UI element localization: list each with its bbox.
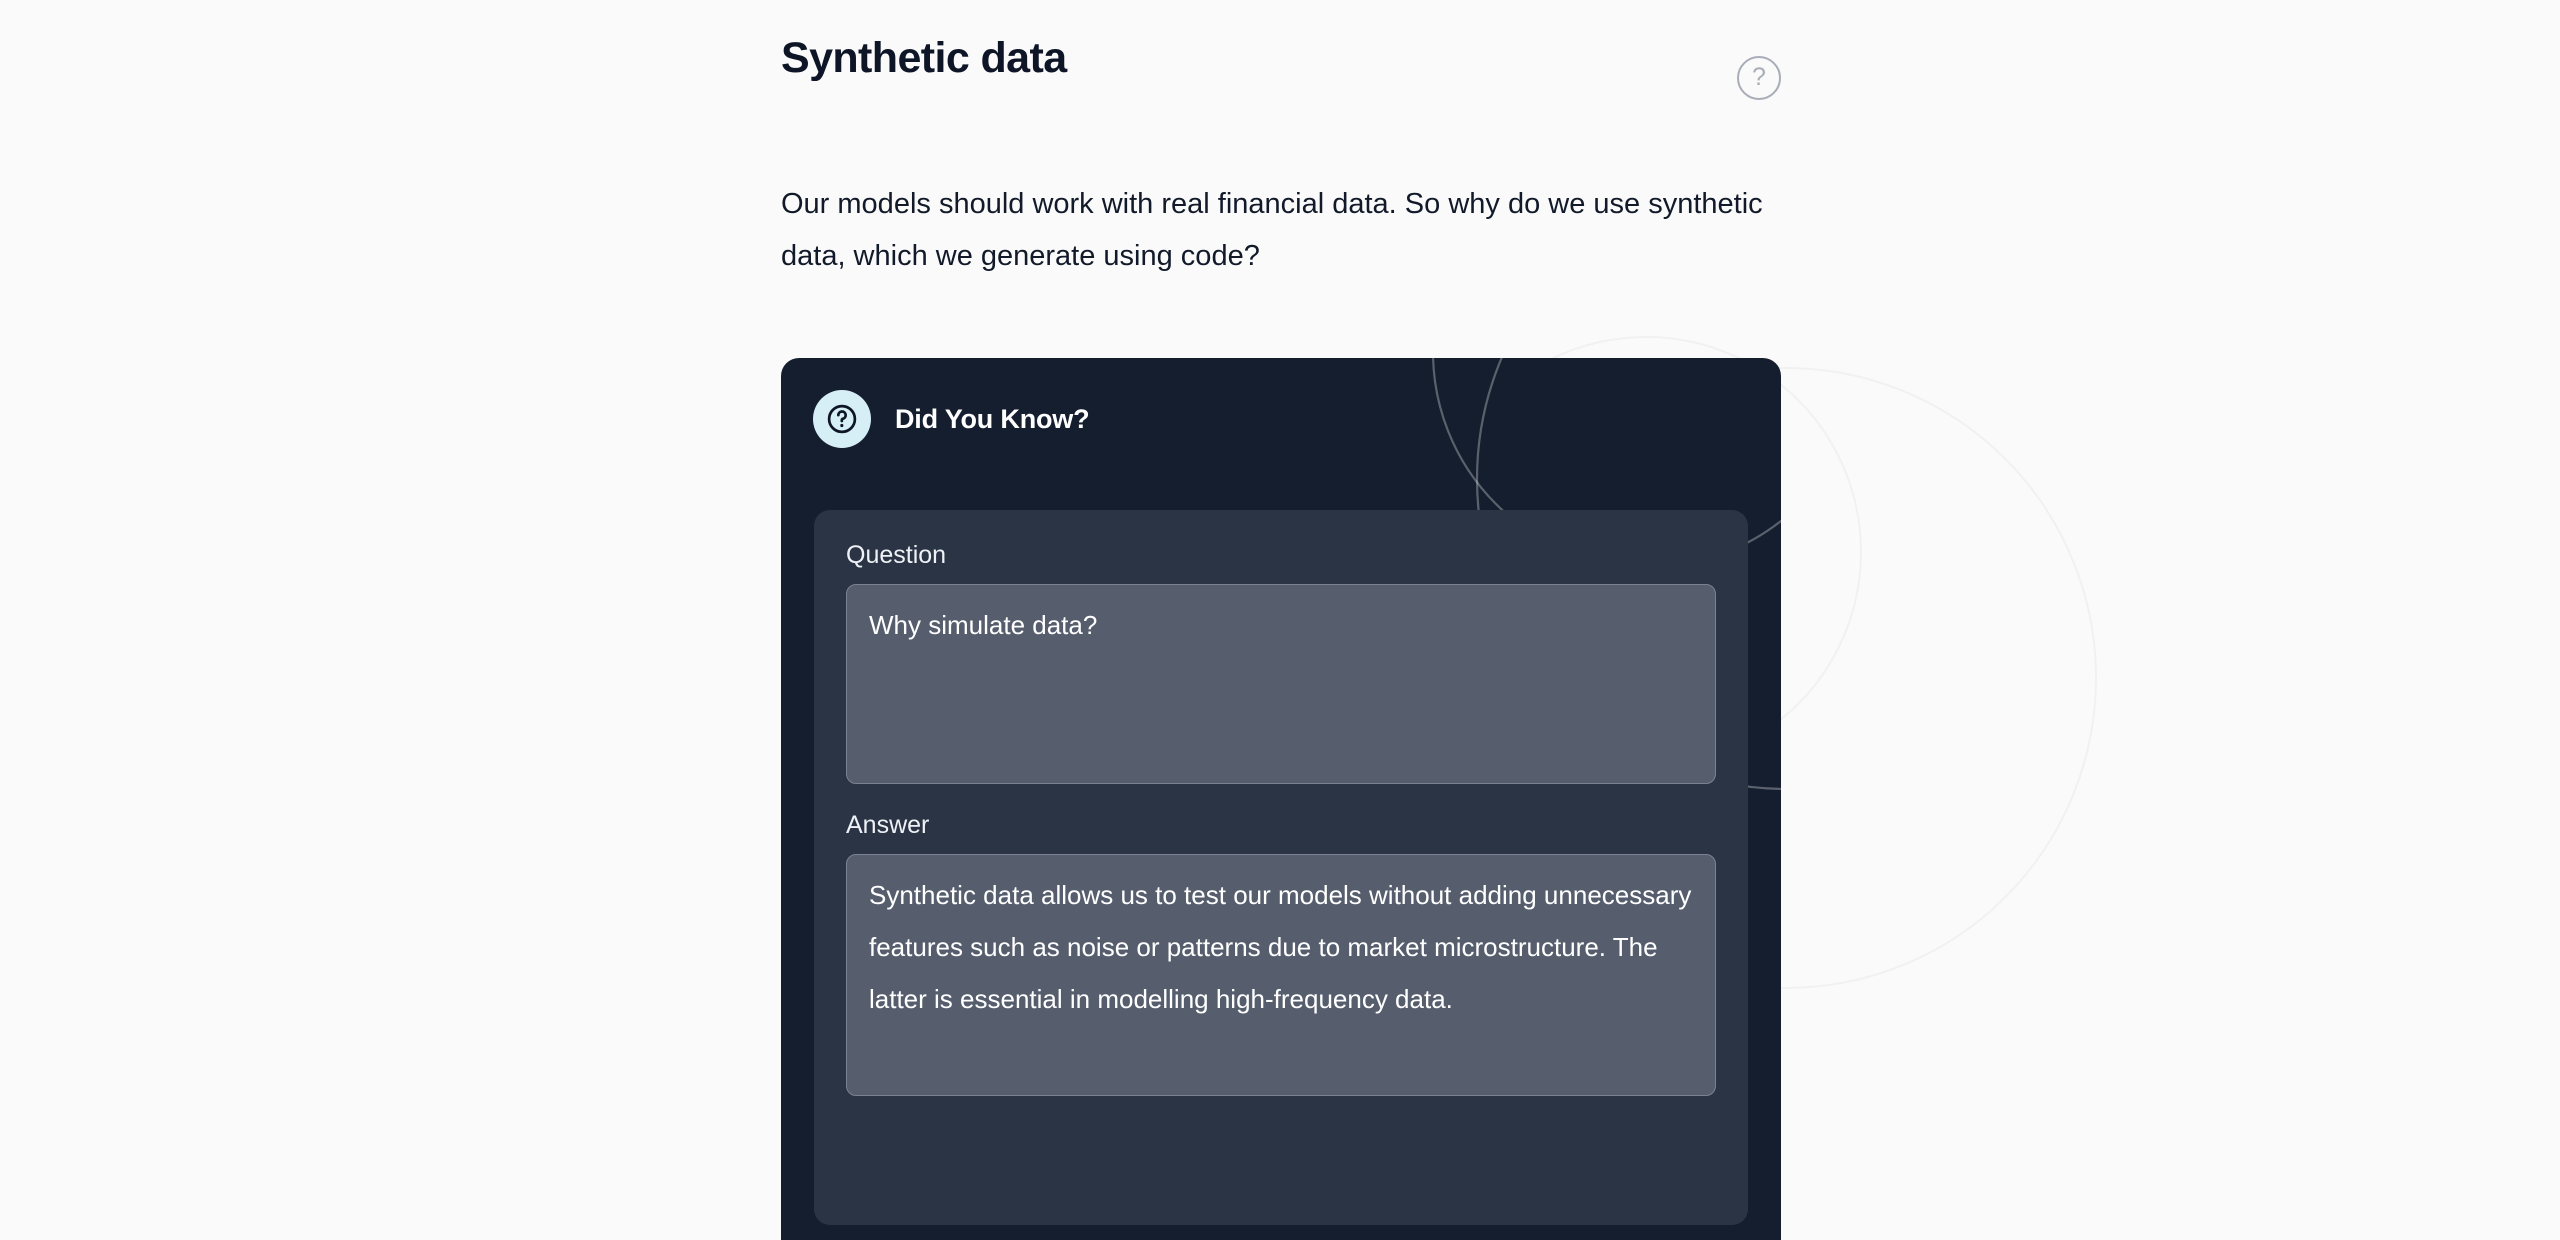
card-header: Did You Know?: [813, 390, 1089, 448]
did-you-know-card: Did You Know? Question Answer: [781, 358, 1781, 1240]
card-title: Did You Know?: [895, 404, 1089, 435]
answer-label: Answer: [846, 808, 1716, 842]
page-header: Synthetic data ?: [781, 28, 1781, 98]
question-label: Question: [846, 538, 1716, 572]
qa-panel: Question Answer: [814, 510, 1748, 1225]
question-mark-circle-icon: [813, 390, 871, 448]
question-input[interactable]: [846, 584, 1716, 784]
help-icon[interactable]: ?: [1737, 56, 1781, 100]
page-title: Synthetic data: [781, 28, 1067, 88]
intro-paragraph: Our models should work with real financi…: [781, 178, 1771, 282]
page-root: Synthetic data ? Our models should work …: [0, 0, 2560, 1240]
help-question-glyph: ?: [1752, 65, 1766, 90]
answer-input[interactable]: [846, 854, 1716, 1096]
